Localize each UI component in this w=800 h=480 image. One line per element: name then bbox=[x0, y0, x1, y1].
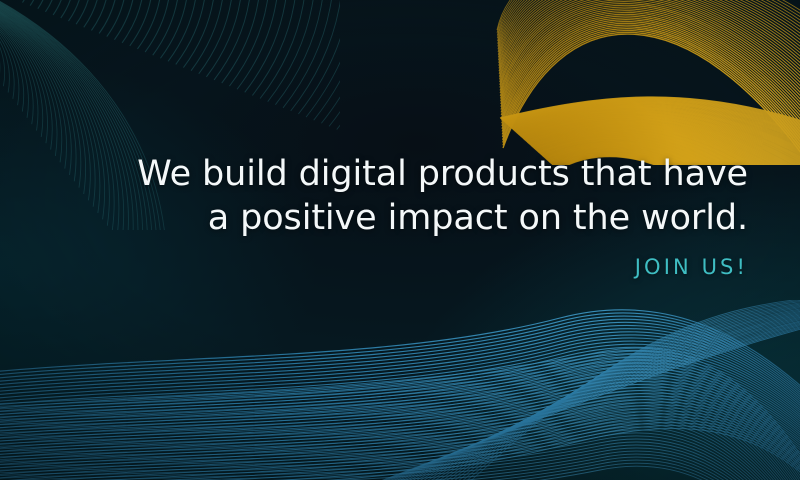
hero-copy-block: We build digital products that have a po… bbox=[0, 152, 748, 280]
hero-banner: We build digital products that have a po… bbox=[0, 0, 800, 480]
join-us-link[interactable]: JOIN US! bbox=[635, 254, 748, 280]
page-title: We build digital products that have a po… bbox=[0, 152, 748, 240]
headline-line-1: We build digital products that have bbox=[0, 152, 748, 196]
headline-line-2: a positive impact on the world. bbox=[0, 196, 748, 240]
